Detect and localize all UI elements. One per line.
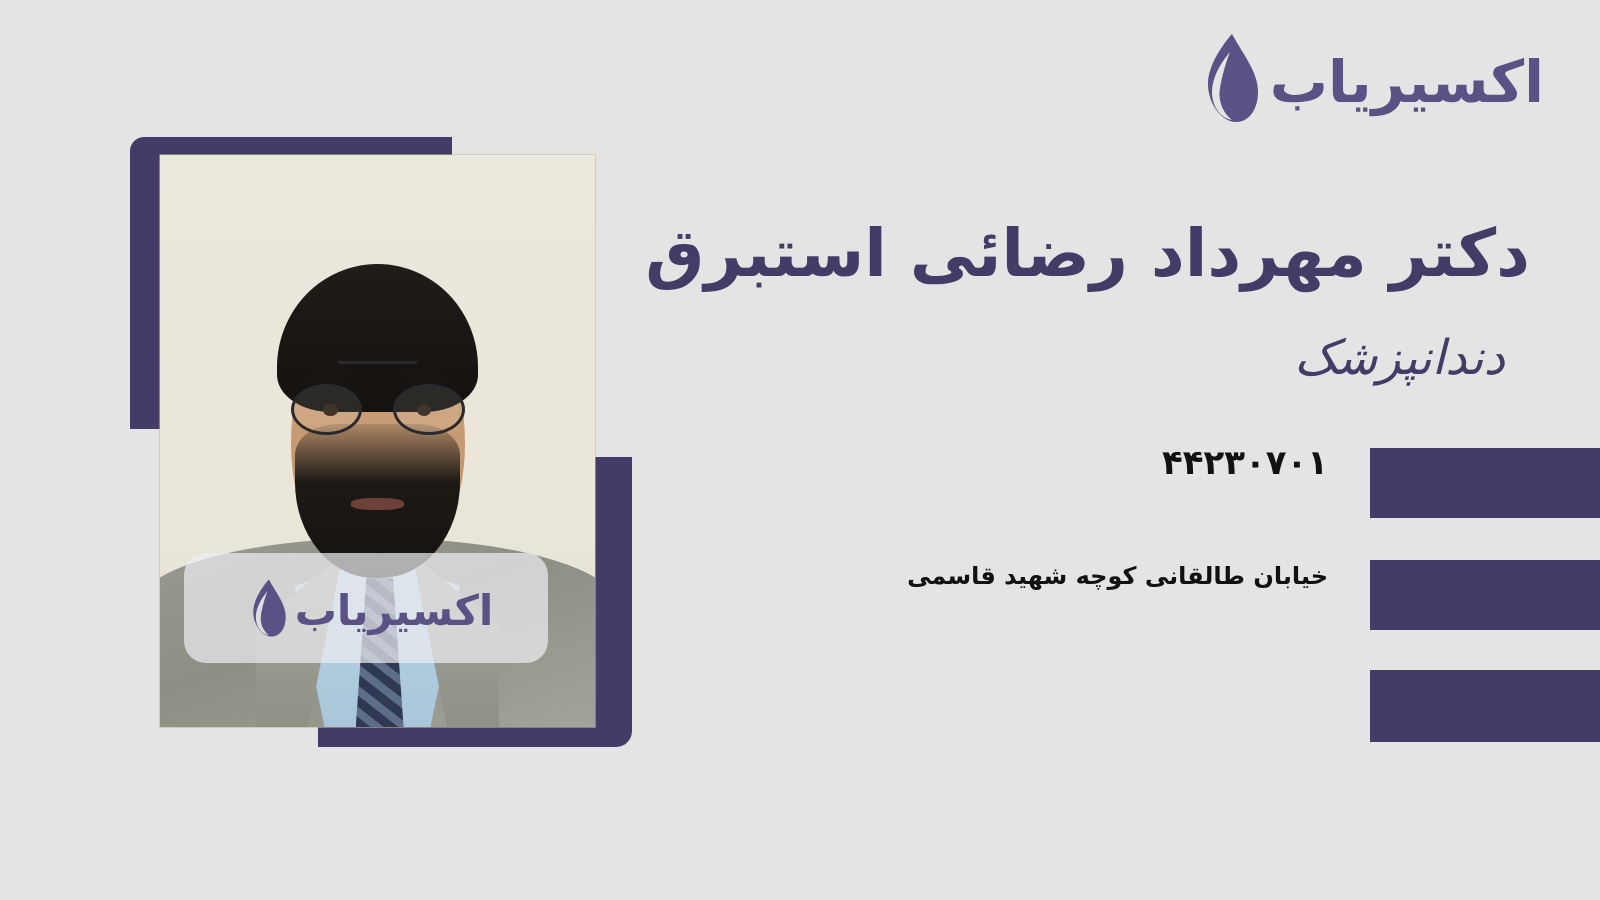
decorative-edge-bar-1 xyxy=(1370,448,1600,518)
glasses-lens-left xyxy=(291,384,362,435)
glasses-bridge xyxy=(338,361,416,364)
doctor-name: دکتر مهرداد رضائی استبرق xyxy=(630,215,1530,293)
brand-name-text: اکسیریاب xyxy=(1270,53,1544,111)
decorative-edge-bar-2 xyxy=(1370,560,1600,630)
doctor-specialty: دندانپزشک xyxy=(625,330,1505,386)
doctor-profile-card: اکسیریاب xyxy=(0,0,1600,900)
photo-watermark: اکسیریاب xyxy=(184,553,548,663)
flame-droplet-icon xyxy=(1186,32,1260,124)
watermark-brand-text: اکسیریاب xyxy=(295,590,494,632)
watermark-flame-droplet-icon xyxy=(239,577,287,639)
decorative-edge-bar-3 xyxy=(1370,670,1600,742)
brand-logo: اکسیریاب xyxy=(1186,30,1544,126)
photo-block: اکسیریاب xyxy=(130,137,632,747)
doctor-phone: ۴۴۲۳۰۷۰۱ xyxy=(1162,443,1328,483)
doctor-photo: اکسیریاب xyxy=(160,155,595,727)
doctor-address: خیابان طالقانی کوچه شهید قاسمی xyxy=(907,562,1328,590)
glasses-lens-right xyxy=(393,384,464,435)
portrait-mouth xyxy=(351,498,403,510)
portrait-glasses xyxy=(291,384,465,435)
